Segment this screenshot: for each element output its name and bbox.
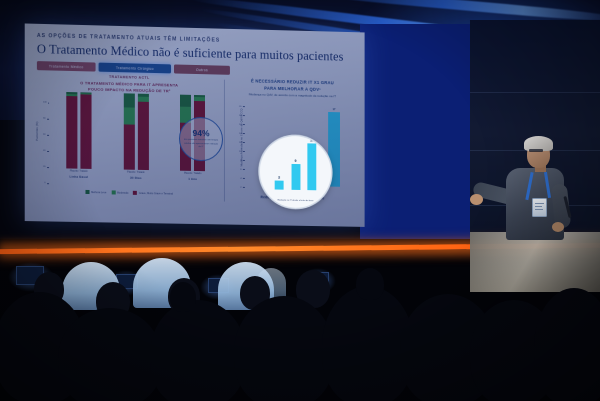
speaker-badge — [532, 198, 547, 217]
y-tick: 2 — [240, 186, 241, 188]
y-tick: 10 — [239, 151, 241, 153]
legend-item: Moderada — [111, 191, 128, 195]
y-tick: 12 — [239, 142, 241, 144]
right-y-axis-label: Mudança Acumulada no Escore de QdV/KCCQ — [241, 108, 244, 166]
legend-label: Grave, Muito Grave e Terminal — [139, 192, 173, 196]
legend-label: Moderada — [117, 192, 128, 195]
legend-item: Grave, Muito Grave e Terminal — [133, 191, 173, 196]
podium-shadow — [470, 232, 600, 292]
magnified-bar-1: 3 — [275, 175, 284, 189]
left-y-axis: Pacientes (%) 100 80 60 40 20 0 — [37, 102, 50, 187]
audience-silhouette — [58, 308, 162, 401]
bar-value: 17 — [333, 108, 336, 111]
y-tick: 40 — [43, 150, 45, 152]
bar-group-label: Placebo Tratado — [70, 170, 88, 174]
group-name: 30 Dias — [130, 176, 142, 180]
bar-value: 9 — [295, 159, 297, 163]
tab-tratamento-medico[interactable]: Tratamento Médico — [37, 61, 96, 71]
bar-value: 3 — [278, 175, 280, 179]
right-bar-chart: Mudança Acumulada no Escore de QdV/KCCQ … — [230, 98, 355, 195]
right-chart-panel: É NECESSÁRIO REDUZIR IT X1 GRAU PARA MEL… — [230, 78, 355, 204]
y-tick: 18 — [239, 115, 241, 117]
bar-group-label: Placebo Tratado — [127, 171, 145, 175]
legend-swatch-melhora-leve — [86, 190, 90, 194]
audience-head — [170, 282, 196, 312]
bar-group-label: Placebo Tratado — [184, 172, 201, 176]
audience-silhouette — [150, 300, 246, 401]
glasses-icon — [529, 149, 543, 152]
magnified-bar-3: 17 — [308, 138, 317, 190]
tab-tratamento-cirurgico[interactable]: Tratamento Cirúrgico — [99, 63, 171, 74]
y-tick: 16 — [239, 124, 241, 126]
panel-divider — [224, 80, 225, 202]
audience-silhouette — [234, 296, 334, 401]
y-tick: 6 — [240, 169, 241, 171]
y-tick: 0 — [44, 183, 45, 185]
y-tick: 4 — [240, 178, 241, 180]
wall-seam — [470, 92, 600, 93]
magnified-bar-2: 9 — [291, 159, 300, 190]
blue-wall-panel — [360, 24, 480, 239]
group-name: 1 Ano — [188, 177, 197, 181]
conference-stage-photo: AS OPÇÕES DE TRATAMENTO ATUAIS TÊM LIMIT… — [0, 0, 600, 401]
y-tick: 20 — [43, 166, 45, 168]
tab-outros[interactable]: Outros — [174, 64, 230, 74]
left-y-axis-label: Pacientes (%) — [36, 122, 39, 142]
legend-item: Melhora Leve — [86, 190, 107, 194]
bar-placebo — [66, 92, 77, 169]
bar-tratado — [80, 92, 91, 169]
y-tick: 8 — [240, 160, 241, 162]
y-tick: 14 — [239, 133, 241, 135]
zoom-circle-overlay: 3 9 17 Redução na IT desde a — [260, 135, 331, 208]
callout-value: 94% — [193, 129, 210, 138]
callout-94-percent: 94% dos pacientes tratados com terapia m… — [179, 117, 223, 162]
callout-text: dos pacientes tratados com terapia médic… — [180, 139, 222, 149]
legend-label: Melhora Leve — [91, 191, 106, 194]
bar-group-linha-basal: Placebo Tratado Linha Basal — [66, 92, 91, 179]
left-chart-panel: TRATAMENTO ACTL O TRATAMENTO MÉDICO PARA… — [37, 73, 221, 201]
audience-head — [356, 268, 384, 300]
y-tick: 80 — [43, 118, 45, 120]
speaker-left-hand — [470, 194, 483, 205]
y-tick: 60 — [43, 134, 45, 136]
bar-placebo — [123, 93, 134, 169]
bar-group-30-dias: Placebo Tratado 30 Dias — [123, 93, 148, 180]
left-chart-legend: Melhora Leve Moderada Grave, Muito Grave… — [37, 190, 221, 197]
speaker-right-hand — [552, 222, 564, 232]
legend-swatch-grave — [133, 191, 137, 195]
y-tick: 20 — [239, 106, 241, 108]
legend-swatch-moderada — [111, 191, 115, 195]
right-y-axis: Mudança Acumulada no Escore de QdV/KCCQ … — [230, 105, 246, 193]
y-tick: 100 — [43, 102, 47, 104]
group-name: Linha Basal — [69, 175, 88, 179]
projected-slide: AS OPÇÕES DE TRATAMENTO ATUAIS TÊM LIMIT… — [25, 23, 365, 226]
bar-tratado — [137, 94, 148, 170]
